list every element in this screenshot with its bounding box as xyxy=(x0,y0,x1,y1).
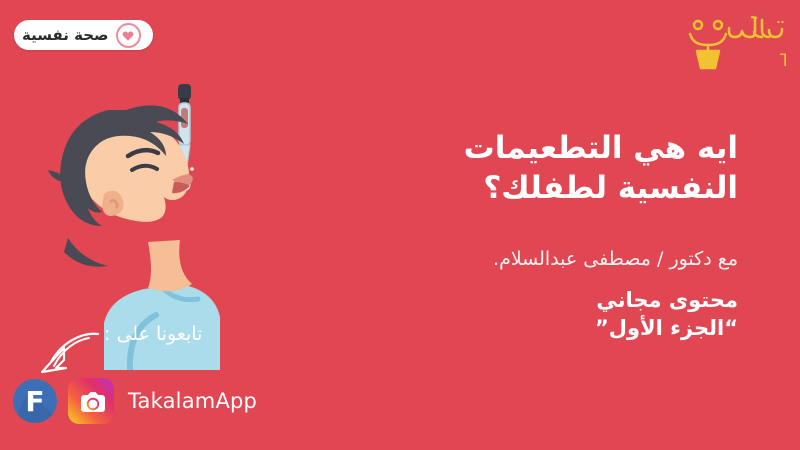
copy-block: ايه هي التطعيمات النفسية لطفلك؟ مع دكتور… xyxy=(408,128,738,343)
svg-text:F: F xyxy=(25,385,44,418)
free-content-line-2: “الجزء الأول” xyxy=(408,315,738,343)
page-title: ايه هي التطعيمات النفسية لطفلك؟ xyxy=(408,128,738,209)
curved-arrow-down-left-icon xyxy=(38,328,100,384)
heart-icon xyxy=(116,23,141,48)
headline-line-2: النفسية لطفلك؟ xyxy=(408,168,738,208)
brand-arabic-wordmark xyxy=(729,17,784,37)
follow-us-label: تابعونا على : xyxy=(104,323,202,345)
promo-banner: صحة نفسية xyxy=(0,0,800,450)
person-figure-icon xyxy=(690,21,726,68)
instagram-camera-icon[interactable] xyxy=(68,378,114,424)
facebook-icon[interactable]: F xyxy=(12,378,58,424)
social-handle[interactable]: TakalamApp xyxy=(128,389,257,413)
category-badge-label: صحة نفسية xyxy=(22,28,109,43)
brand-latin-wordmark: Takalm xyxy=(779,51,786,71)
free-content-note: محتوى مجاني “الجزء الأول” xyxy=(408,287,738,342)
free-content-line-1: محتوى مجاني xyxy=(408,287,738,315)
presenter-credit: مع دكتور / مصطفى عبدالسلام. xyxy=(408,247,738,272)
social-links[interactable]: F TakalamApp xyxy=(12,377,257,425)
brand-logo: Takalm xyxy=(682,14,786,72)
headline-line-1: ايه هي التطعيمات xyxy=(408,128,738,168)
category-badge: صحة نفسية xyxy=(14,20,153,50)
